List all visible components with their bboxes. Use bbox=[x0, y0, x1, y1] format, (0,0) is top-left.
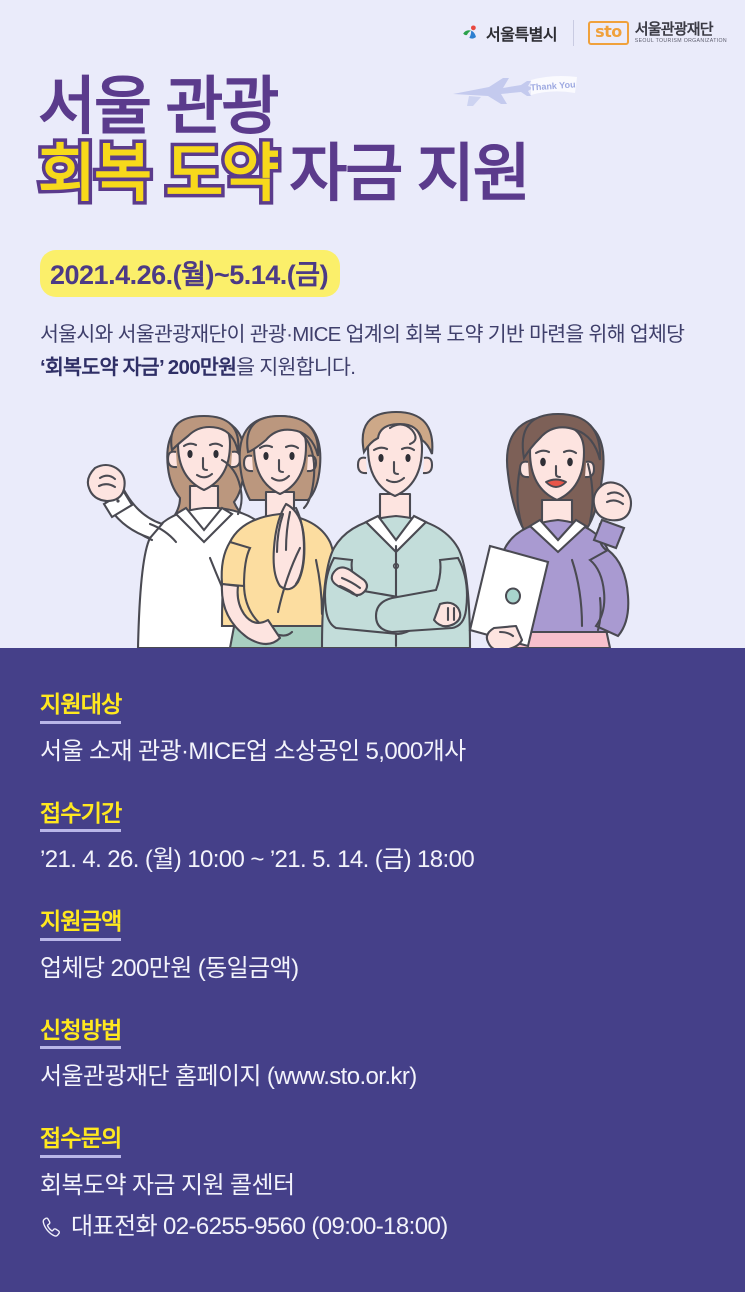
info-label-period: 접수기간 bbox=[40, 799, 121, 833]
info-block-contact: 접수문의 회복도약 자금 지원 콜센터 대표전화 02-6255-9560 (0… bbox=[40, 1124, 715, 1244]
info-value-contact-phone: 대표전화 02-6255-9560 (09:00-18:00) bbox=[71, 1210, 448, 1245]
phone-icon bbox=[40, 1216, 62, 1238]
logo-bar: 서울특별시 sto 서울관광재단 SEOUL TOURISM ORGANIZAT… bbox=[460, 20, 727, 46]
info-value-target: 서울 소재 관광·MICE업 소상공인 5,000개사 bbox=[40, 735, 715, 770]
info-block-period: 접수기간 ’21. 4. 26. (월) 10:00 ~ ’21. 5. 14.… bbox=[40, 799, 715, 879]
sto-name-en: SEOUL TOURISM ORGANIZATION bbox=[635, 39, 727, 44]
poster: 서울특별시 sto 서울관광재단 SEOUL TOURISM ORGANIZAT… bbox=[0, 0, 745, 1292]
info-value-method[interactable]: 서울관광재단 홈페이지 (www.sto.or.kr) bbox=[40, 1060, 715, 1095]
sto-logo: sto 서울관광재단 SEOUL TOURISM ORGANIZATION bbox=[574, 21, 727, 45]
headline-line-1: 서울 관광 bbox=[38, 76, 688, 139]
seoul-symbol-icon bbox=[460, 22, 482, 44]
headline-highlight-text: 회복 도약 bbox=[38, 143, 277, 206]
info-value-amount: 업체당 200만원 (동일금액) bbox=[40, 952, 715, 987]
info-value-contact-phone-row: 대표전화 02-6255-9560 (09:00-18:00) bbox=[40, 1210, 715, 1245]
info-value-period: ’21. 4. 26. (월) 10:00 ~ ’21. 5. 14. (금) … bbox=[40, 843, 715, 878]
sto-badge: sto bbox=[588, 21, 629, 45]
date-badge-row: 2021.4.26.(월)~5.14.(금) bbox=[40, 250, 340, 297]
application-period-badge: 2021.4.26.(월)~5.14.(금) bbox=[40, 250, 340, 297]
info-block-method: 신청방법 서울관광재단 홈페이지 (www.sto.or.kr) bbox=[40, 1016, 715, 1096]
info-label-contact: 접수문의 bbox=[40, 1124, 121, 1158]
info-block-target: 지원대상 서울 소재 관광·MICE업 소상공인 5,000개사 bbox=[40, 690, 715, 770]
person-teal-shirt bbox=[322, 412, 470, 648]
person-purple-sweater bbox=[470, 414, 631, 648]
description-text: 서울시와 서울관광재단이 관광·MICE 업계의 회복 도약 기반 마련을 위해… bbox=[40, 318, 710, 384]
description-part-1: 서울시와 서울관광재단이 관광·MICE 업계의 회복 도약 기반 마련을 위해… bbox=[40, 323, 684, 346]
info-block-amount: 지원금액 업체당 200만원 (동일금액) bbox=[40, 907, 715, 987]
info-label-method: 신청방법 bbox=[40, 1016, 121, 1050]
sto-badge-text: sto bbox=[595, 22, 622, 41]
headline-line-2-purple: 자금 지원 bbox=[289, 143, 528, 206]
info-label-amount: 지원금액 bbox=[40, 907, 121, 941]
sto-name-ko: 서울관광재단 bbox=[635, 22, 727, 37]
description-part-2: 을 지원합니다. bbox=[236, 356, 355, 379]
headline-line-2: 회복 도약 자금 지원 bbox=[38, 143, 688, 206]
info-list: 지원대상 서울 소재 관광·MICE업 소상공인 5,000개사 접수기간 ’2… bbox=[40, 690, 715, 1245]
sto-name-group: 서울관광재단 SEOUL TOURISM ORGANIZATION bbox=[635, 22, 727, 45]
seoul-city-logo: 서울특별시 bbox=[460, 20, 574, 46]
info-label-target: 지원대상 bbox=[40, 690, 121, 724]
seoul-city-logo-text: 서울특별시 bbox=[486, 21, 557, 45]
four-people-illustration: .ln { fill:none; stroke:#4a4a52; stroke-… bbox=[0, 408, 745, 648]
headline: 서울 관광 회복 도약 자금 지원 bbox=[38, 76, 688, 206]
description-bold: ‘회복도약 자금’ 200만원 bbox=[40, 356, 236, 379]
person-yellow-top bbox=[222, 416, 338, 648]
poster-top-section: 서울특별시 sto 서울관광재단 SEOUL TOURISM ORGANIZAT… bbox=[0, 0, 745, 648]
info-value-contact: 회복도약 자금 지원 콜센터 bbox=[40, 1169, 715, 1204]
poster-bottom-section: 지원대상 서울 소재 관광·MICE업 소상공인 5,000개사 접수기간 ’2… bbox=[0, 648, 745, 1292]
